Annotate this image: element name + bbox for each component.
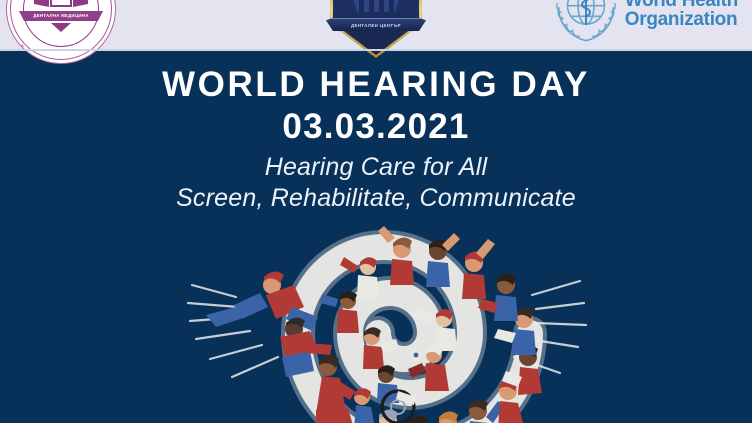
logo-band: ДЕНТАЛНА МЕДИЦИНА УНИВЕРСИТЕТСКИ МЕДИКО … — [0, 0, 752, 51]
poster-body: WORLD HEARING DAY 03.03.2021 Hearing Car… — [0, 51, 752, 423]
subtitle-line-2: Screen, Rehabilitate, Communicate — [0, 184, 752, 213]
shield-ribbon: ДЕНТАЛЕН ЦЕНТЪР — [326, 18, 426, 31]
world-health-organization-logo: World Health Organization — [553, 0, 738, 44]
subtitle-line-1: Hearing Care for All — [0, 153, 752, 182]
page-title: WORLD HEARING DAY — [0, 67, 752, 103]
who-emblem-icon — [553, 0, 619, 44]
seal-rim-text-ring: УНИВЕРСИТЕТСКИ МЕДИКО - ДЕНТАЛЕН ЦЕНТЪР — [7, 0, 116, 64]
event-date: 03.03.2021 — [0, 107, 752, 147]
seal-rim-text: УНИВЕРСИТЕТСКИ МЕДИКО - ДЕНТАЛЕН ЦЕНТЪР — [6, 43, 25, 64]
shield-ribbon-text: ДЕНТАЛЕН ЦЕНТЪР — [326, 19, 426, 32]
spiral-of-diverse-people-illustration — [176, 211, 596, 423]
who-wordmark: World Health Organization — [625, 0, 738, 30]
shield-emblem: S ДЕНТАЛЕН ЦЕНТЪР — [330, 0, 422, 58]
who-wordmark-line2: Organization — [625, 11, 738, 30]
university-dental-medicine-seal: ДЕНТАЛНА МЕДИЦИНА УНИВЕРСИТЕТСКИ МЕДИКО … — [6, 0, 116, 64]
